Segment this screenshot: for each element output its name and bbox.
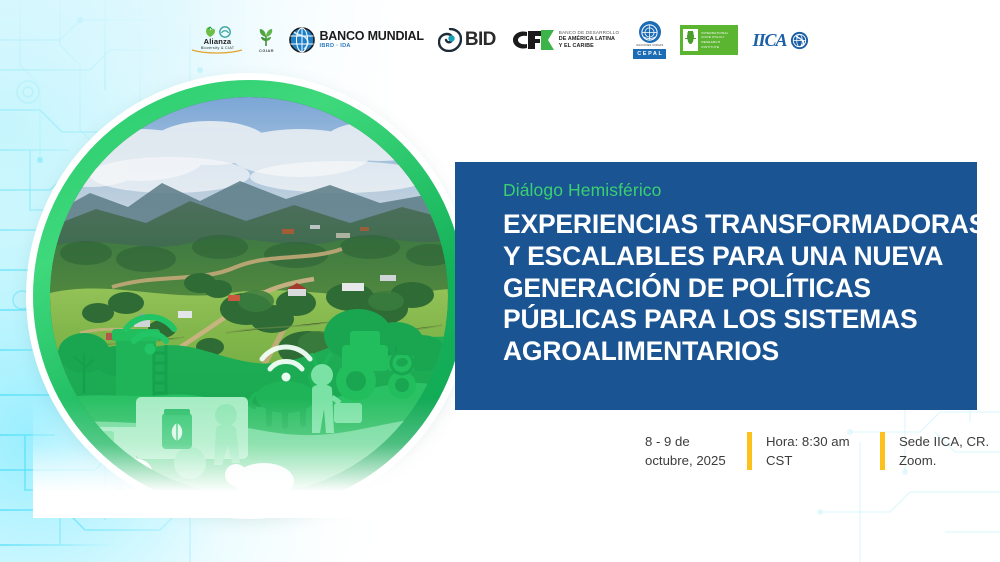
event-headline: EXPERIENCIAS TRANSFORMADORAS Y ESCALABLE… [503, 209, 957, 368]
iica-globe-icon [790, 31, 809, 50]
cgiar-leaf-icon [257, 27, 275, 47]
logo-cgiar: CGIAR [257, 27, 275, 53]
un-emblem-icon [639, 21, 661, 43]
bid-wordmark: BID [465, 29, 496, 51]
meta-venue-text: Sede IICA, CR. Zoom. [899, 432, 991, 470]
logo-alianza-bioversity-ciat: Alianza Bioversity & CIAT [191, 26, 243, 53]
cepal-wordmark: CEPAL [633, 49, 666, 59]
meta-divider-2 [880, 432, 885, 470]
caf-mark-icon [510, 28, 554, 52]
cepal-micro-text: NACIONES UNIDAS [636, 44, 663, 47]
caf-line-3: Y EL CARIBE [559, 43, 619, 50]
headline-line-3: GENERACIÓN DE POLÍTICAS [503, 273, 957, 305]
hero-photo [50, 97, 448, 495]
ifpri-abbr: IFPRI [686, 46, 694, 50]
logo-cepal: NACIONES UNIDAS CEPAL [633, 21, 666, 59]
globe-icon [289, 27, 315, 53]
logo-caf: BANCO DE DESARROLLO DE AMÉRICA LATINA Y … [510, 28, 619, 52]
meta-date: 8 - 9 de octubre, 2025 [645, 432, 733, 470]
banco-mundial-subtitle: IBRD · IDA [319, 44, 423, 50]
meta-date-text: 8 - 9 de octubre, 2025 [645, 432, 733, 470]
logo-banco-mundial: BANCO MUNDIAL IBRD · IDA [289, 27, 423, 53]
headline-line-5: AGROALIMENTARIOS [503, 336, 957, 368]
logo-ifpri: IFPRI INTERNATIONAL FOOD POLICY RESEARCH… [680, 25, 738, 55]
meta-time: Hora: 8:30 am CST [766, 432, 866, 470]
banco-mundial-wordmark: BANCO MUNDIAL [319, 30, 423, 43]
headline-line-4: PÚBLICAS PARA LOS SISTEMAS [503, 304, 957, 336]
meta-time-text: Hora: 8:30 am CST [766, 432, 866, 470]
event-kicker: Diálogo Hemisférico [503, 180, 957, 201]
ifpri-mark-icon: IFPRI [683, 29, 698, 51]
bid-mark-icon [438, 28, 462, 52]
logo-bid: BID [438, 28, 496, 52]
partner-logo-strip: Alianza Bioversity & CIAT CGIAR [0, 18, 1000, 62]
meta-divider-1 [747, 432, 752, 470]
hero-circle [33, 80, 465, 512]
logo-iica: IICA [752, 30, 808, 51]
iica-wordmark: IICA [752, 30, 786, 51]
poster-canvas: Alianza Bioversity & CIAT CGIAR [0, 0, 1000, 562]
headline-line-2: Y ESCALABLES PARA UNA NUEVA [503, 241, 957, 273]
ifpri-line-4: INSTITUTE [701, 45, 728, 50]
cgiar-wordmark: CGIAR [259, 48, 274, 53]
headline-line-1: EXPERIENCIAS TRANSFORMADORAS [503, 209, 957, 241]
title-panel: Diálogo Hemisférico EXPERIENCIAS TRANSFO… [455, 162, 977, 410]
meta-venue: Sede IICA, CR. Zoom. [899, 432, 991, 470]
caf-line-2: DE AMÉRICA LATINA [559, 36, 619, 43]
event-meta-bar: 8 - 9 de octubre, 2025 Hora: 8:30 am CST… [645, 432, 991, 470]
